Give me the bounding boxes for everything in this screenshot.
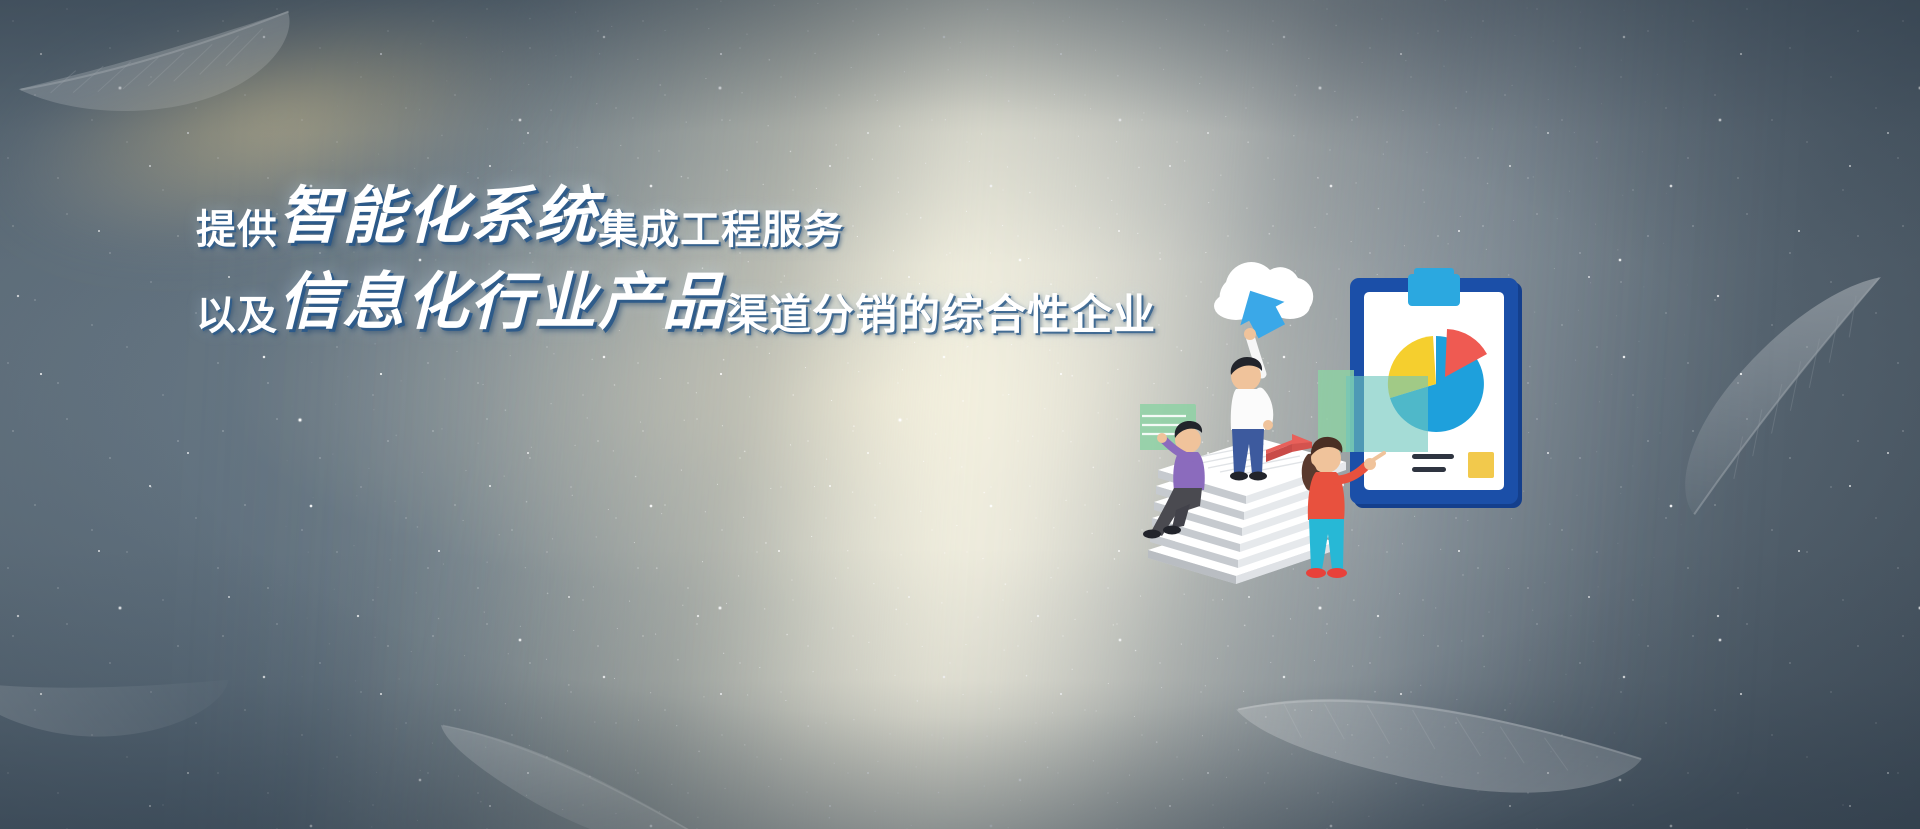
headline-line-1: 提供智能化系统集成工程服务 — [196, 186, 1246, 248]
headline-line2-part1: 以及 — [196, 296, 278, 336]
headline-line1-part3: 集成工程服务 — [598, 210, 844, 250]
headline-line1-emphasis: 智能化系统 — [278, 186, 598, 248]
banner-hero: 提供智能化系统集成工程服务 以及信息化行业产品渠道分销的综合性企业 — [0, 0, 1920, 829]
headline-line2-part3: 渠道分销的综合性企业 — [726, 294, 1156, 336]
headline-line-2: 以及信息化行业产品渠道分销的综合性企业 — [196, 272, 1246, 334]
headline-line2-emphasis: 信息化行业产品 — [278, 272, 726, 334]
headline-line1-part1: 提供 — [196, 210, 278, 250]
business-analytics-illustration — [1140, 258, 1530, 588]
hero-headline: 提供智能化系统集成工程服务 以及信息化行业产品渠道分销的综合性企业 — [196, 186, 1246, 334]
